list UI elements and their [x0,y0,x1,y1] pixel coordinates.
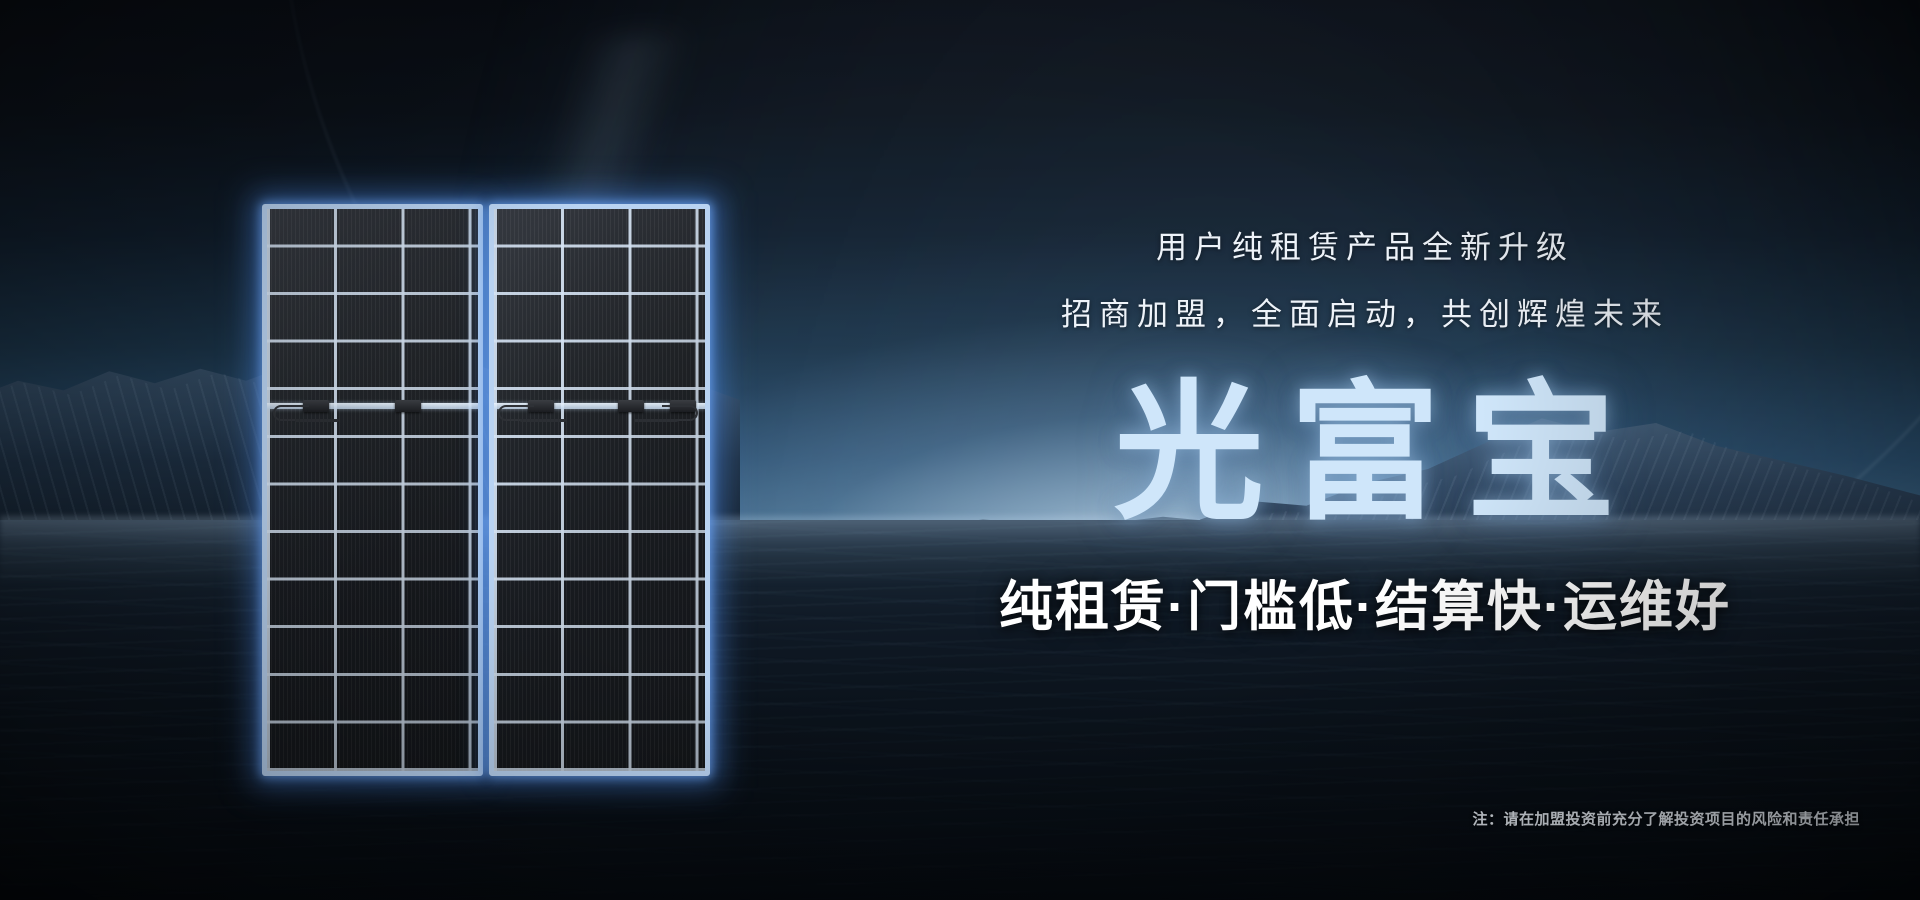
panel-cable-icon [634,419,678,422]
junction-box-icon [618,400,644,412]
solar-panel-product [262,204,710,776]
panel-frame-screws-right [705,209,708,771]
panel-cable-icon [520,419,566,422]
panel-frame-bottom-highlight-left [267,771,478,776]
panel-cable-icon [295,419,339,422]
solar-cell-grid-left [267,209,478,771]
solar-cell-grid-right [494,209,705,771]
marketing-copy: 用户纯租赁产品全新升级 招商加盟，全面启动，共创辉煌未来 光富宝 纯租赁·门槛低… [860,232,1870,634]
solar-panel-half-left [262,204,483,776]
solar-panel-half-right [489,204,710,776]
promo-banner: 用户纯租赁产品全新升级 招商加盟，全面启动，共创辉煌未来 光富宝 纯租赁·门槛低… [0,0,1920,900]
panel-frame-top-highlight-right [494,204,705,209]
panel-frame-bottom-highlight-right [494,771,705,776]
disclaimer-note: 注：请在加盟投资前充分了解投资项目的风险和责任承担 [1472,808,1860,829]
brand-title: 光富宝 [860,378,1870,528]
solar-panel [262,204,710,776]
headline-line-1: 用户纯租赁产品全新升级 [860,232,1870,263]
tagline: 纯租赁·门槛低·结算快·运维好 [860,580,1870,634]
junction-box-icon [395,400,421,412]
panel-frame-screws-left [264,209,267,771]
panel-frame-top-highlight-left [267,204,478,209]
headline-line-2: 招商加盟，全面启动，共创辉煌未来 [860,299,1870,330]
